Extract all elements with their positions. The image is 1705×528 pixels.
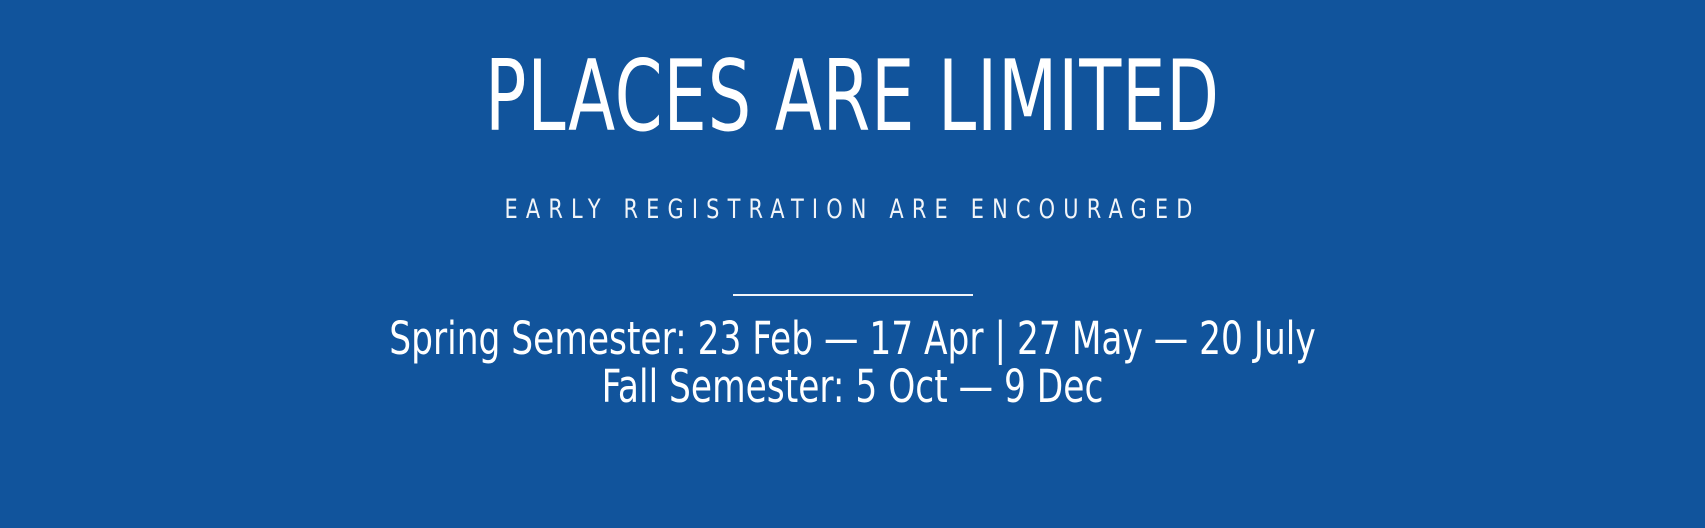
schedule-line-spring: Spring Semester: 23 Feb — 17 Apr | 27 Ma… (128, 315, 1577, 363)
page-title: PLACES ARE LIMITED (188, 48, 1518, 146)
divider-container (0, 294, 1705, 296)
subtitle: EARLY REGISTRATION ARE ENCOURAGED (119, 194, 1585, 226)
horizontal-rule-divider (733, 294, 973, 296)
promo-banner: PLACES ARE LIMITED EARLY REGISTRATION AR… (0, 0, 1705, 528)
semester-schedule: Spring Semester: 23 Feb — 17 Apr | 27 Ma… (0, 315, 1705, 410)
schedule-line-fall: Fall Semester: 5 Oct — 9 Dec (128, 363, 1577, 411)
